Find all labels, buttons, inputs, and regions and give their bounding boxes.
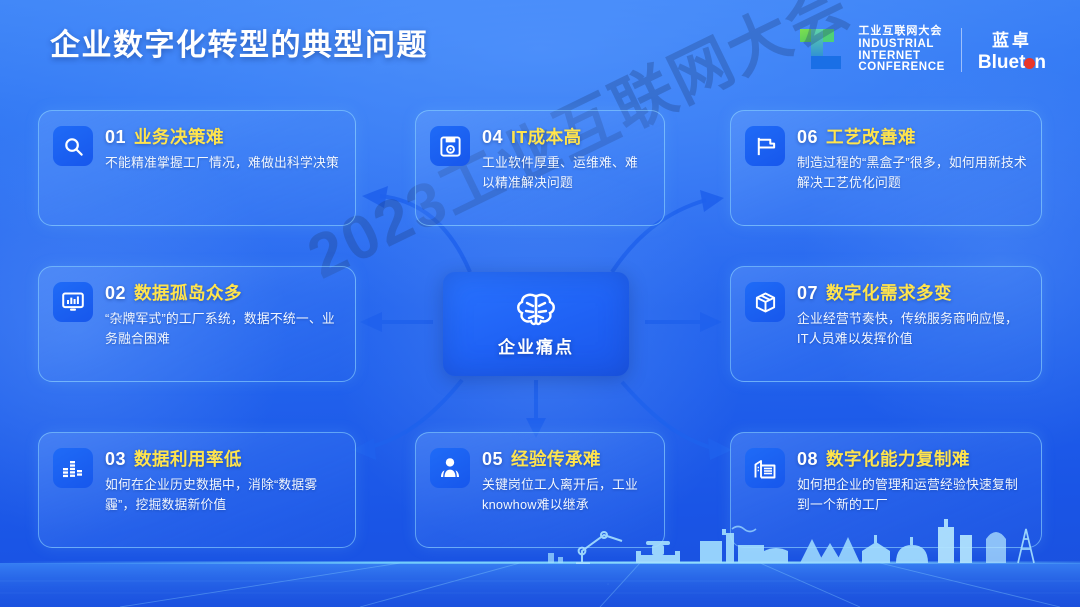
factory-icon: [745, 448, 785, 488]
cube-box-icon: [745, 282, 785, 322]
conference-name-cn: 工业互联网大会: [858, 26, 945, 37]
card-06-body: 06 工艺改善难 制造过程的“黑盒子”很多，如何用新技术解决工艺优化问题: [797, 124, 1027, 213]
card-01-number: 01: [105, 127, 126, 148]
logo-block: 工业互联网大会 INDUSTRIAL INTERNET CONFERENCE 蓝…: [797, 18, 1046, 82]
page-title: 企业数字化转型的典型问题: [50, 20, 428, 64]
card-04[interactable]: 04 IT成本高 工业软件厚重、运维难、难以精准解决问题: [415, 110, 665, 226]
card-03-desc: 如何在企业历史数据中，消除“数据雾霾”，挖掘数据新价值: [105, 475, 341, 515]
bar-chart-icon: [53, 448, 93, 488]
brand-name-en-prefix: Bluet: [978, 52, 1026, 73]
card-04-desc: 工业软件厚重、运维难、难以精准解决问题: [482, 153, 650, 193]
brain-icon: [513, 290, 559, 330]
card-04-title: IT成本高: [511, 124, 582, 149]
card-05-head: 05 经验传承难: [482, 446, 650, 471]
card-06[interactable]: 06 工艺改善难 制造过程的“黑盒子”很多，如何用新技术解决工艺优化问题: [730, 110, 1042, 226]
people-icon: [430, 448, 470, 488]
card-08[interactable]: 08 数字化能力复制难 如何把企业的管理和运营经验快速复制到一个新的工厂: [730, 432, 1042, 548]
card-02-title: 数据孤岛众多: [134, 280, 242, 305]
card-07-title: 数字化需求多变: [826, 280, 952, 305]
card-07-head: 07 数字化需求多变: [797, 280, 1027, 305]
search-icon: [53, 126, 93, 166]
card-01-body: 01 业务决策难 不能精准掌握工厂情况，难做出科学决策: [105, 124, 341, 213]
conference-name-en-3: CONFERENCE: [858, 62, 945, 74]
conference-logo-text: 工业互联网大会 INDUSTRIAL INTERNET CONFERENCE: [858, 26, 945, 74]
card-05-title: 经验传承难: [511, 446, 601, 471]
card-04-number: 04: [482, 127, 503, 148]
card-03-head: 03 数据利用率低: [105, 446, 341, 471]
center-hub-label: 企业痛点: [498, 333, 574, 358]
card-04-head: 04 IT成本高: [482, 124, 650, 149]
card-07-body: 07 数字化需求多变 企业经营节奏快，传统服务商响应慢，IT人员难以发挥价值: [797, 280, 1027, 369]
card-05[interactable]: 05 经验传承难 关键岗位工人离开后，工业knowhow难以继承: [415, 432, 665, 548]
card-02-body: 02 数据孤岛众多 “杂牌军式”的工厂系统，数据不统一、业务融合困难: [105, 280, 341, 369]
conference-logo: 工业互联网大会 INDUSTRIAL INTERNET CONFERENCE: [797, 24, 945, 76]
card-03-number: 03: [105, 449, 126, 470]
brand-name-cn: 蓝卓: [992, 26, 1032, 51]
card-06-title: 工艺改善难: [826, 124, 916, 149]
card-05-number: 05: [482, 449, 503, 470]
card-03[interactable]: 03 数据利用率低 如何在企业历史数据中，消除“数据雾霾”，挖掘数据新价值: [38, 432, 356, 548]
card-08-number: 08: [797, 449, 818, 470]
card-04-body: 04 IT成本高 工业软件厚重、运维难、难以精准解决问题: [482, 124, 650, 213]
card-05-body: 05 经验传承难 关键岗位工人离开后，工业knowhow难以继承: [482, 446, 650, 535]
card-08-head: 08 数字化能力复制难: [797, 446, 1027, 471]
card-03-title: 数据利用率低: [134, 446, 242, 471]
card-03-body: 03 数据利用率低 如何在企业历史数据中，消除“数据雾霾”，挖掘数据新价值: [105, 446, 341, 535]
card-05-desc: 关键岗位工人离开后，工业knowhow难以继承: [482, 475, 650, 515]
slide-canvas: 企业数字化转型的典型问题: [0, 0, 1080, 607]
card-02[interactable]: 02 数据孤岛众多 “杂牌军式”的工厂系统，数据不统一、业务融合困难: [38, 266, 356, 382]
card-07[interactable]: 07 数字化需求多变 企业经营节奏快，传统服务商响应慢，IT人员难以发挥价值: [730, 266, 1042, 382]
card-08-desc: 如何把企业的管理和运营经验快速复制到一个新的工厂: [797, 475, 1027, 515]
process-flag-icon: [745, 126, 785, 166]
brand-name-en: Bluetn: [978, 52, 1046, 74]
card-01-title: 业务决策难: [134, 124, 224, 149]
card-01[interactable]: 01 业务决策难 不能精准掌握工厂情况，难做出科学决策: [38, 110, 356, 226]
card-07-number: 07: [797, 283, 818, 304]
floppy-disk-icon: [430, 126, 470, 166]
card-06-head: 06 工艺改善难: [797, 124, 1027, 149]
card-08-body: 08 数字化能力复制难 如何把企业的管理和运营经验快速复制到一个新的工厂: [797, 446, 1027, 535]
card-01-desc: 不能精准掌握工厂情况，难做出科学决策: [105, 153, 341, 173]
card-02-number: 02: [105, 283, 126, 304]
card-01-head: 01 业务决策难: [105, 124, 341, 149]
brand-name-en-suffix: n: [1034, 52, 1046, 73]
card-07-desc: 企业经营节奏快，传统服务商响应慢，IT人员难以发挥价值: [797, 309, 1027, 349]
conference-logo-mark-icon: [797, 24, 849, 76]
conference-name-en-1: INDUSTRIAL: [858, 39, 945, 51]
center-hub: 企业痛点: [443, 272, 629, 376]
brand-logo: 蓝卓 Bluetn: [978, 26, 1046, 74]
card-08-title: 数字化能力复制难: [826, 446, 970, 471]
card-06-number: 06: [797, 127, 818, 148]
monitor-chart-icon: [53, 282, 93, 322]
card-02-desc: “杂牌军式”的工厂系统，数据不统一、业务融合困难: [105, 309, 341, 349]
card-06-desc: 制造过程的“黑盒子”很多，如何用新技术解决工艺优化问题: [797, 153, 1027, 193]
card-02-head: 02 数据孤岛众多: [105, 280, 341, 305]
logo-divider: [961, 28, 962, 72]
